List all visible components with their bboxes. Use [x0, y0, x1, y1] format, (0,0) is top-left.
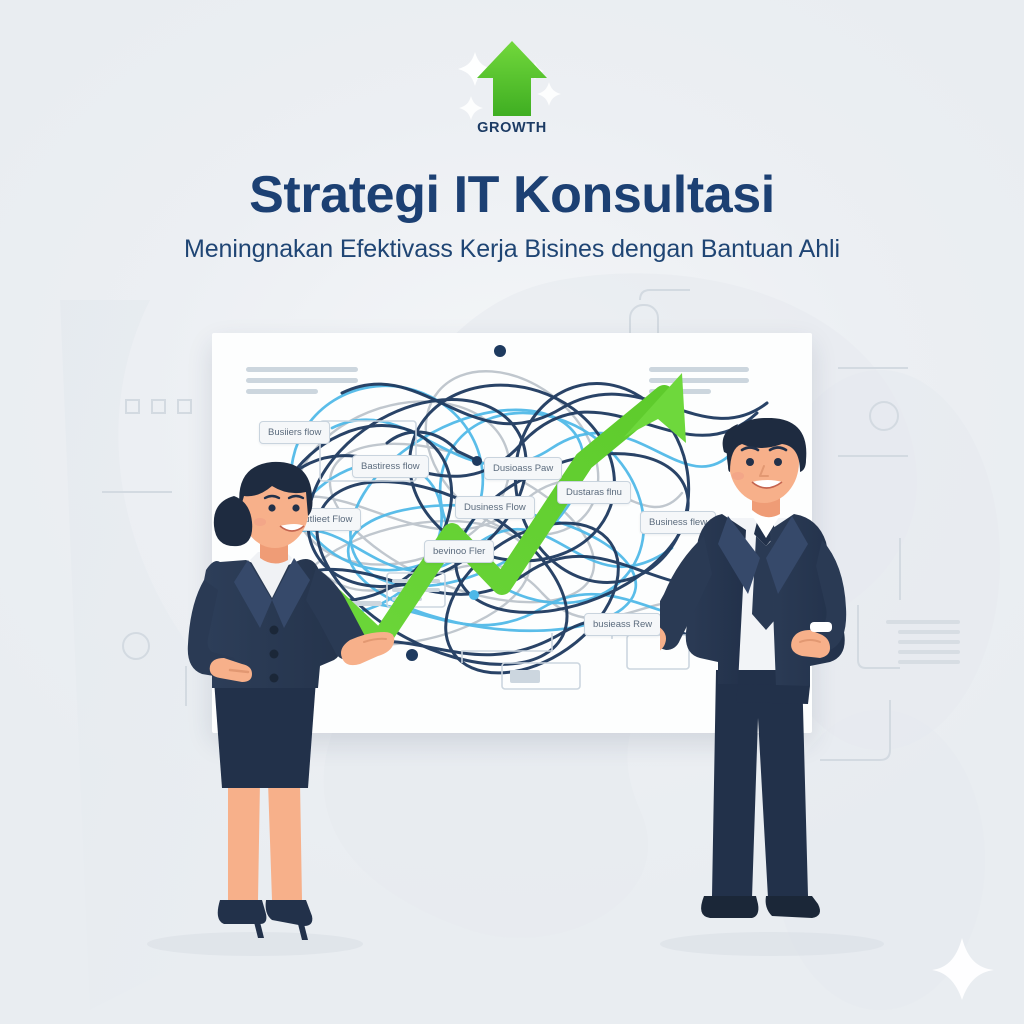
sticky-note[interactable]: Dusioass Paw	[484, 457, 562, 480]
page-title: Strategi IT Konsultasi	[249, 168, 775, 223]
growth-label: GROWTH	[447, 120, 577, 136]
sticky-note[interactable]: Dustaras flnu	[557, 481, 631, 504]
sticky-note[interactable]: bevinoo Fler	[424, 540, 494, 563]
sticky-note[interactable]: Busiiers flow	[259, 421, 330, 444]
growth-badge: GROWTH	[447, 36, 577, 146]
page-subtitle: Meningnakan Efektivass Kerja Bisines den…	[184, 235, 840, 264]
presenter-woman	[168, 452, 398, 952]
sticky-note[interactable]: busieass Rew	[584, 613, 661, 636]
presenter-man	[660, 418, 890, 948]
poster-header: GROWTH Strategi IT Konsultasi Meningnaka…	[0, 0, 1024, 290]
sticky-note[interactable]: Dusiness Flow	[455, 496, 535, 519]
poster-canvas: GROWTH Strategi IT Konsultasi Meningnaka…	[0, 0, 1024, 1024]
